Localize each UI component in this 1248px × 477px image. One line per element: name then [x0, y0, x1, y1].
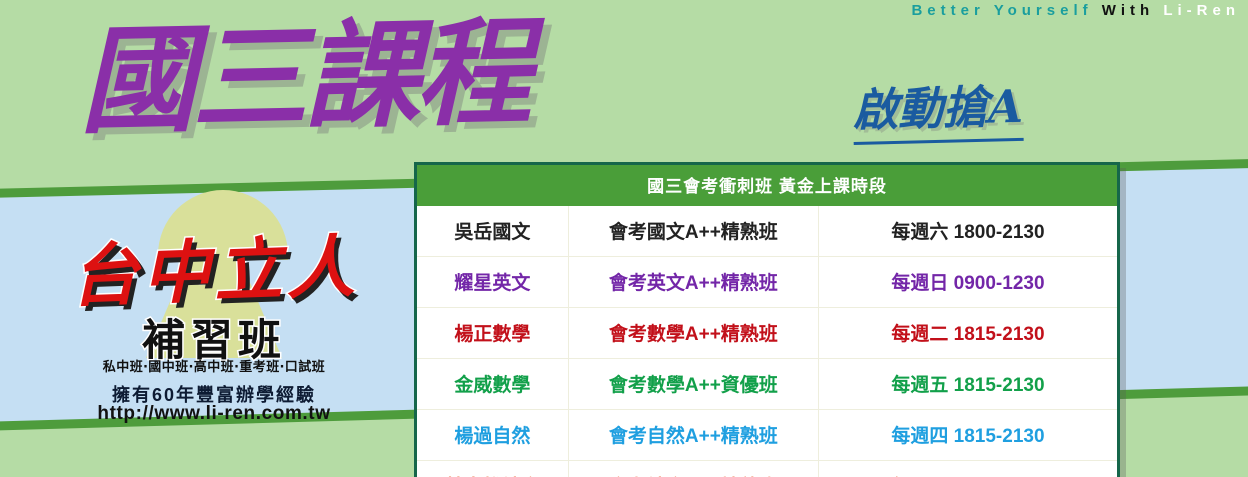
- table-cell-teacher: 耀星英文: [417, 257, 568, 308]
- table-cell-course: 會考英文A++精熟班: [568, 257, 818, 308]
- schedule-table-body: 吳岳國文會考國文A++精熟班每週六 1800-2130耀星英文會考英文A++精熟…: [417, 206, 1117, 477]
- tagline: Better Yourself With Li-Ren: [911, 2, 1240, 19]
- schedule-header-title: 國三會考衝刺班 黃金上課時段: [417, 165, 1117, 206]
- table-cell-course: 會考國文A++精熟班: [568, 206, 818, 257]
- table-row: 楊過自然會考自然A++精熟班每週四 1815-2130: [417, 410, 1117, 461]
- table-cell-course: 會考數學A++精熟班: [568, 308, 818, 359]
- table-row: 林大雄社會會考社會A++精熟班每週日 1330-1700: [417, 461, 1117, 477]
- table-cell-time: 每週五 1815-2130: [818, 359, 1117, 410]
- logo-website-url[interactable]: http://www.li-ren.com.tw: [24, 403, 404, 425]
- promotional-banner: Better Yourself With Li-Ren 國三課程 啟動搶A 台中…: [0, 0, 1248, 477]
- page-title: 國三課程: [78, 5, 529, 151]
- table-cell-time: 每週四 1815-2130: [818, 410, 1117, 461]
- table-cell-course: 會考社會A++精熟班: [568, 461, 818, 477]
- logo: 台中立人 補習班 私中班‧國中班‧高中班‧重考班‧口試班 擁有60年豐富辦學經驗…: [24, 198, 404, 428]
- table-cell-teacher: 楊正數學: [417, 308, 568, 359]
- table-row: 金威數學會考數學A++資優班每週五 1815-2130: [417, 359, 1117, 410]
- tagline-part-1: Better Yourself: [911, 2, 1092, 19]
- schedule-table: 國三會考衝刺班 黃金上課時段 吳岳國文會考國文A++精熟班每週六 1800-21…: [417, 165, 1117, 477]
- table-cell-course: 會考自然A++精熟班: [568, 410, 818, 461]
- tagline-part-2: With: [1102, 2, 1154, 19]
- table-cell-time: 每週六 1800-2130: [818, 206, 1117, 257]
- logo-brand-name: 台中立人: [22, 209, 405, 321]
- table-row: 耀星英文會考英文A++精熟班每週日 0900-1230: [417, 257, 1117, 308]
- logo-class-tags: 私中班‧國中班‧高中班‧重考班‧口試班: [24, 356, 404, 375]
- table-cell-time: 每週日 0900-1230: [818, 257, 1117, 308]
- table-row: 吳岳國文會考國文A++精熟班每週六 1800-2130: [417, 206, 1117, 257]
- table-cell-teacher: 林大雄社會: [417, 461, 568, 477]
- table-cell-teacher: 金威數學: [417, 359, 568, 410]
- table-cell-time: 每週日 1330-1700: [818, 461, 1117, 477]
- tagline-part-3: Li-Ren: [1163, 2, 1240, 19]
- table-cell-teacher: 吳岳國文: [417, 206, 568, 257]
- table-header-row: 國三會考衝刺班 黃金上課時段: [417, 165, 1117, 206]
- table-cell-time: 每週二 1815-2130: [818, 308, 1117, 359]
- table-cell-course: 會考數學A++資優班: [568, 359, 818, 410]
- table-cell-teacher: 楊過自然: [417, 410, 568, 461]
- page-subtitle: 啟動搶A: [852, 70, 1024, 145]
- schedule-table-container: 國三會考衝刺班 黃金上課時段 吳岳國文會考國文A++精熟班每週六 1800-21…: [414, 162, 1120, 477]
- table-row: 楊正數學會考數學A++精熟班每週二 1815-2130: [417, 308, 1117, 359]
